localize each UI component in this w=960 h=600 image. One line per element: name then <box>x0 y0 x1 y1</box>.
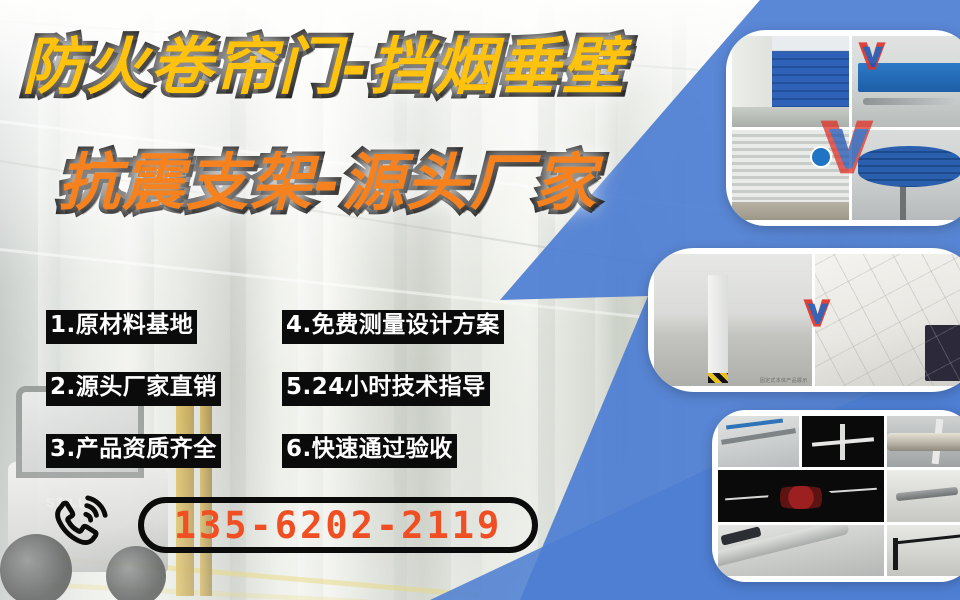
photo-pipe-clamp-support <box>887 416 960 467</box>
collage-installation-sites[interactable]: 固定式本体产品展示 <box>648 248 960 392</box>
photo-steel-frame-structure <box>887 525 960 576</box>
photo-duct-support-bracket <box>718 525 884 576</box>
feature-item-4: 4.免费测量设计方案 <box>282 310 504 343</box>
feature-item-6: 6.快速通过验收 <box>282 434 457 467</box>
feature-list: 1.原材料基地 4.免费测量设计方案 2.源头厂家直销 5.24小时技术指导 3… <box>46 296 556 482</box>
feature-item-3: 3.产品资质齐全 <box>46 434 221 467</box>
photo-underground-parking-garage-interior: 固定式本体产品展示 <box>654 254 812 386</box>
phone-number-pill[interactable]: 135-6202-2119 <box>138 497 538 553</box>
photo-caption: 固定式本体产品展示 <box>760 377 808 384</box>
photo-ceiling-fan-bracing <box>887 470 960 521</box>
photo-black-bg-brace-detail <box>802 416 883 467</box>
banner-root: STILL 防火卷帘门-挡烟垂壁 抗震支架-源头厂家 1.原材料基地 4.免费测… <box>0 0 960 600</box>
contact-phone-row[interactable]: 135-6202-2119 <box>48 490 538 560</box>
headline-primary: 防火卷帘门-挡烟垂壁 <box>22 36 626 98</box>
feature-item-1: 1.原材料基地 <box>46 310 197 343</box>
photo-fan-brace-assembly <box>718 470 884 521</box>
photo-commercial-ceiling-installation <box>815 254 960 386</box>
phone-number-text: 135-6202-2119 <box>174 507 503 544</box>
photo-steel-rolling-shutter-corridor <box>732 130 849 221</box>
v-logo-watermark <box>855 39 889 73</box>
collage-seismic-bracing-systems[interactable] <box>712 410 960 582</box>
photo-blue-rolling-fire-shutter-door <box>732 36 849 127</box>
safety-sign-icon <box>810 146 832 168</box>
photo-shutter-drum-roller-assembly <box>852 130 960 221</box>
feature-item-2: 2.源头厂家直销 <box>46 372 221 405</box>
feature-item-5: 5.24小时技术指导 <box>282 372 490 405</box>
headline-secondary: 抗震支架-源头厂家 <box>58 152 598 214</box>
collage-fire-shutter-products[interactable] <box>726 30 960 226</box>
phone-ringing-icon <box>48 494 110 556</box>
photo-roll-forming-production-machine <box>852 36 960 127</box>
photo-pipe-hanger-bracket <box>718 416 799 467</box>
